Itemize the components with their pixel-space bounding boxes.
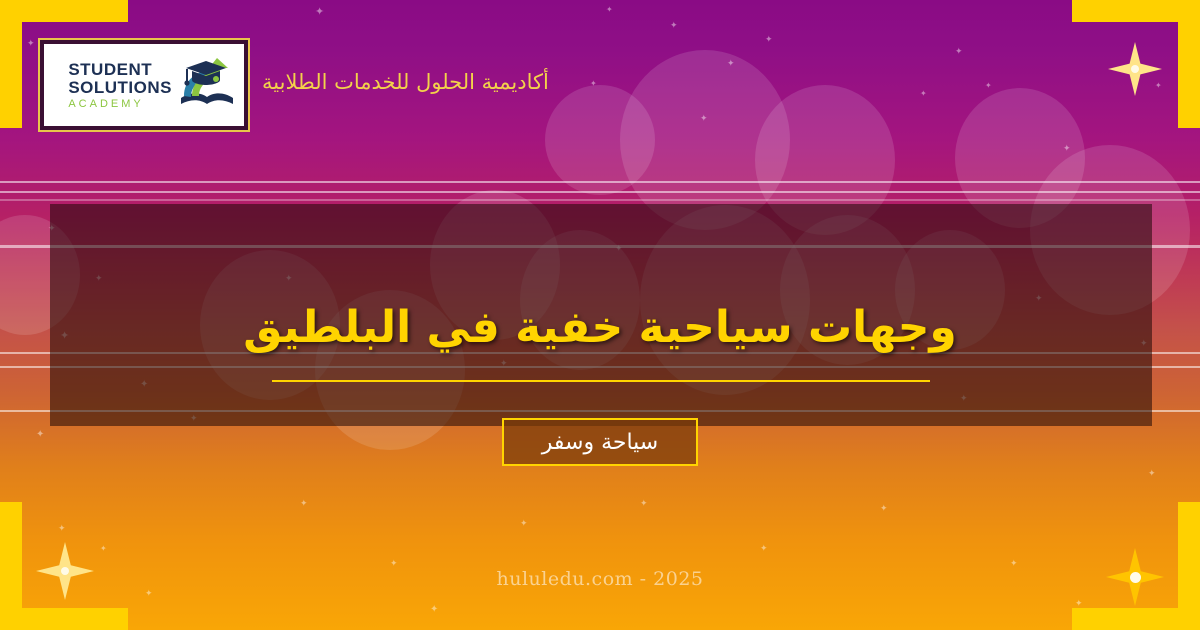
social-share-banner: ✦ ✦ ✦ ✦ ✦ ✦ ✦ ✦ ✦ ✦ ✦ ✦ ✦ ✦ ✦ ✦ ✦ ✦ ✦ ✦ … (0, 0, 1200, 630)
category-badge-label: سياحة وسفر (542, 430, 659, 455)
logo-line-2: SOLUTIONS (68, 79, 172, 96)
logo-line-1: STUDENT (68, 61, 152, 78)
logo-line-3: ACADEMY (68, 99, 143, 110)
title-underline (272, 380, 930, 382)
category-badge[interactable]: سياحة وسفر (502, 418, 698, 466)
graduation-cap-book-arrow-icon (176, 54, 238, 116)
brand-name-arabic: أكاديمية الحلول للخدمات الطلابية (262, 70, 549, 94)
logo-frame[interactable]: STUDENT SOLUTIONS ACADEMY (38, 38, 250, 132)
logo-wordmark: STUDENT SOLUTIONS ACADEMY (68, 61, 172, 110)
footer-credit: hululedu.com - 2025 (0, 568, 1200, 590)
logo-card: STUDENT SOLUTIONS ACADEMY (44, 44, 244, 126)
page-title: وجهات سياحية خفية في البلطيق (0, 300, 1200, 355)
